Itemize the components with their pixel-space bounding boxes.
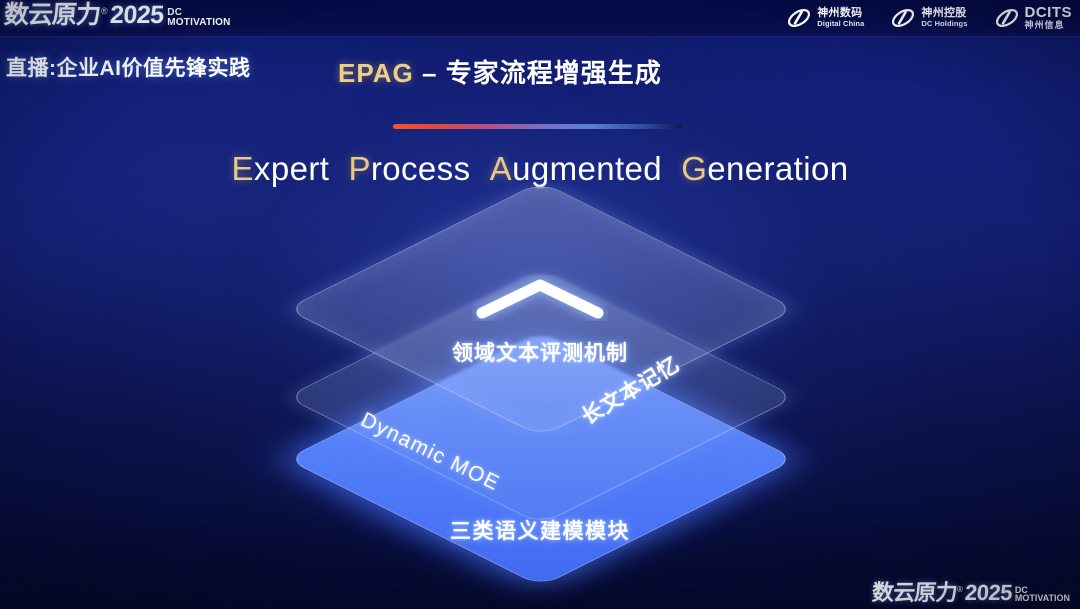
partner-logo-dcits: DCITS 神州信息 <box>994 5 1073 31</box>
title-word-rest: ugmented <box>512 150 662 187</box>
footer-watermark: 数云原力 ® 2025 DC MOTIVATION <box>872 582 1070 604</box>
title-space <box>480 150 490 187</box>
partner-logo-group: 神州数码 Digital China 神州控股 DC Holdings <box>786 5 1072 31</box>
title-word-initial: A <box>490 150 512 187</box>
partner-name-en: 神州信息 <box>1025 21 1073 30</box>
partner-name-en: DC Holdings <box>921 20 967 28</box>
live-stream-title: 直播:企业AI价值先锋实践 <box>6 52 251 82</box>
watermark-registered-mark: ® <box>957 585 963 594</box>
swirl-logo-icon <box>994 5 1020 31</box>
brand-motivation-label: MOTIVATION <box>167 18 230 28</box>
swirl-logo-icon <box>786 5 812 31</box>
swirl-logo-icon <box>890 5 916 31</box>
layer-stack-diagram: 领域文本评测机制 Dynamic MOE 长文本记忆 三类语义建模模块 <box>290 225 790 560</box>
partner-logo-text: 神州控股 DC Holdings <box>921 8 967 27</box>
slide-canvas: 数云原力 ® 2025 DC MOTIVATION 神州数码 Digital C… <box>0 0 1080 609</box>
watermark-dc-motivation: DC MOTIVATION <box>1015 586 1070 603</box>
title-word-initial: G <box>681 150 707 187</box>
brand-dc-motivation: DC MOTIVATION <box>167 8 230 27</box>
brand-logo: 数云原力 ® 2025 DC MOTIVATION <box>4 3 231 28</box>
title-space <box>672 150 682 187</box>
partner-logo-digital-china: 神州数码 Digital China <box>786 5 864 31</box>
topic-code: EPAG <box>338 58 414 88</box>
brand-registered-mark: ® <box>101 7 108 16</box>
watermark-motivation-label: MOTIVATION <box>1015 594 1070 603</box>
partner-name-cn: DCITS <box>1025 5 1073 21</box>
topic-title-cn: 专家流程增强生成 <box>446 58 662 88</box>
title-word-rest: rocess <box>371 150 471 187</box>
layer-label-top: 领域文本评测机制 <box>452 337 628 367</box>
chevron-up-icon <box>472 275 608 321</box>
top-banner: 数云原力 ® 2025 DC MOTIVATION 神州数码 Digital C… <box>0 0 1080 36</box>
title-word-rest: xpert <box>254 150 329 187</box>
brand-year: 2025 <box>109 3 164 28</box>
partner-logo-text: DCITS 神州信息 <box>1025 5 1073 30</box>
partner-name-en: Digital China <box>817 20 864 28</box>
title-word-rest: eneration <box>707 150 848 187</box>
layer-label-bottom: 三类语义建模模块 <box>450 515 630 545</box>
gradient-divider <box>393 124 682 129</box>
partner-logo-text: 神州数码 Digital China <box>817 8 864 27</box>
watermark-year: 2025 <box>964 582 1012 604</box>
watermark-name-cn: 数云原力 <box>871 582 957 604</box>
partner-logo-dc-holdings: 神州控股 DC Holdings <box>890 5 967 31</box>
title-word-initial: P <box>348 150 370 187</box>
brand-name-cn: 数云原力 <box>3 3 101 28</box>
title-word-initial: E <box>232 150 254 187</box>
topic-heading: EPAG – 专家流程增强生成 <box>338 53 662 90</box>
topic-separator: – <box>414 58 446 88</box>
page-title: Expert Process Augmented Generation <box>0 150 1080 188</box>
